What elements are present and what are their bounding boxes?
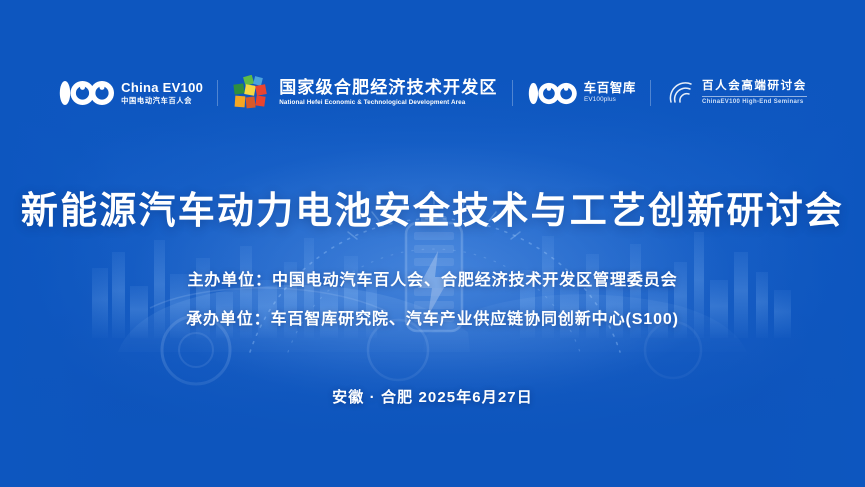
logo-hefei-wordmark-cn: 国家级合肥经济技术开发区	[279, 78, 497, 98]
logo-ev100plus-text: 车百智库 EV100plus	[584, 81, 636, 105]
logo-china-ev100-wordmark-en: China EV100	[121, 80, 203, 96]
logo-seminars-wordmark-cn: 百人会高端研讨会	[702, 79, 807, 94]
seminar-arc-icon	[665, 78, 695, 108]
logo-seminars-rule	[702, 96, 807, 97]
host-line: 承办单位：车百智库研究院、汽车产业供应链协同创新中心(S100)	[0, 310, 865, 330]
logo-seminars-text: 百人会高端研讨会 ChinaEV100 High-End Seminars	[702, 79, 807, 107]
sponsor-logo-bar: China EV100 中国电动汽车百人会 国家级合肥经济技术开发区 Natio…	[0, 68, 865, 118]
hefei-development-zone-icon	[232, 75, 272, 111]
ev100plus-logo-icon	[527, 82, 577, 105]
logo-china-ev100: China EV100 中国电动汽车百人会	[44, 70, 217, 116]
logo-china-ev100-wordmark-cn: 中国电动汽车百人会	[121, 96, 203, 106]
logo-hefei-wordmark-en: National Hefei Economic & Technological …	[279, 98, 497, 107]
logo-china-ev100-text: China EV100 中国电动汽车百人会	[121, 80, 203, 106]
logo-hefei-text: 国家级合肥经济技术开发区 National Hefei Economic & T…	[279, 78, 497, 108]
conference-banner: China EV100 中国电动汽车百人会 国家级合肥经济技术开发区 Natio…	[0, 0, 865, 487]
logo-high-end-seminars: 百人会高端研讨会 ChinaEV100 High-End Seminars	[651, 70, 821, 116]
organizer-line: 主办单位：中国电动汽车百人会、合肥经济技术开发区管理委员会	[0, 271, 865, 291]
logo-ev100plus: 车百智库 EV100plus	[513, 70, 650, 116]
background-bottom-fade	[0, 357, 865, 487]
logo-ev100plus-wordmark-en: EV100plus	[584, 97, 636, 106]
venue-date: 安徽 · 合肥 2025年6月27日	[0, 386, 865, 407]
banner-title: 新能源汽车动力电池安全技术与工艺创新研讨会	[0, 188, 865, 233]
ev100-logo-icon	[58, 80, 114, 106]
logo-hefei-development-zone: 国家级合肥经济技术开发区 National Hefei Economic & T…	[218, 70, 511, 116]
logo-ev100plus-wordmark-cn: 车百智库	[584, 81, 636, 97]
logo-seminars-wordmark-en: ChinaEV100 High-End Seminars	[702, 99, 807, 107]
organizer-block: 主办单位：中国电动汽车百人会、合肥经济技术开发区管理委员会 承办单位：车百智库研…	[0, 271, 865, 331]
